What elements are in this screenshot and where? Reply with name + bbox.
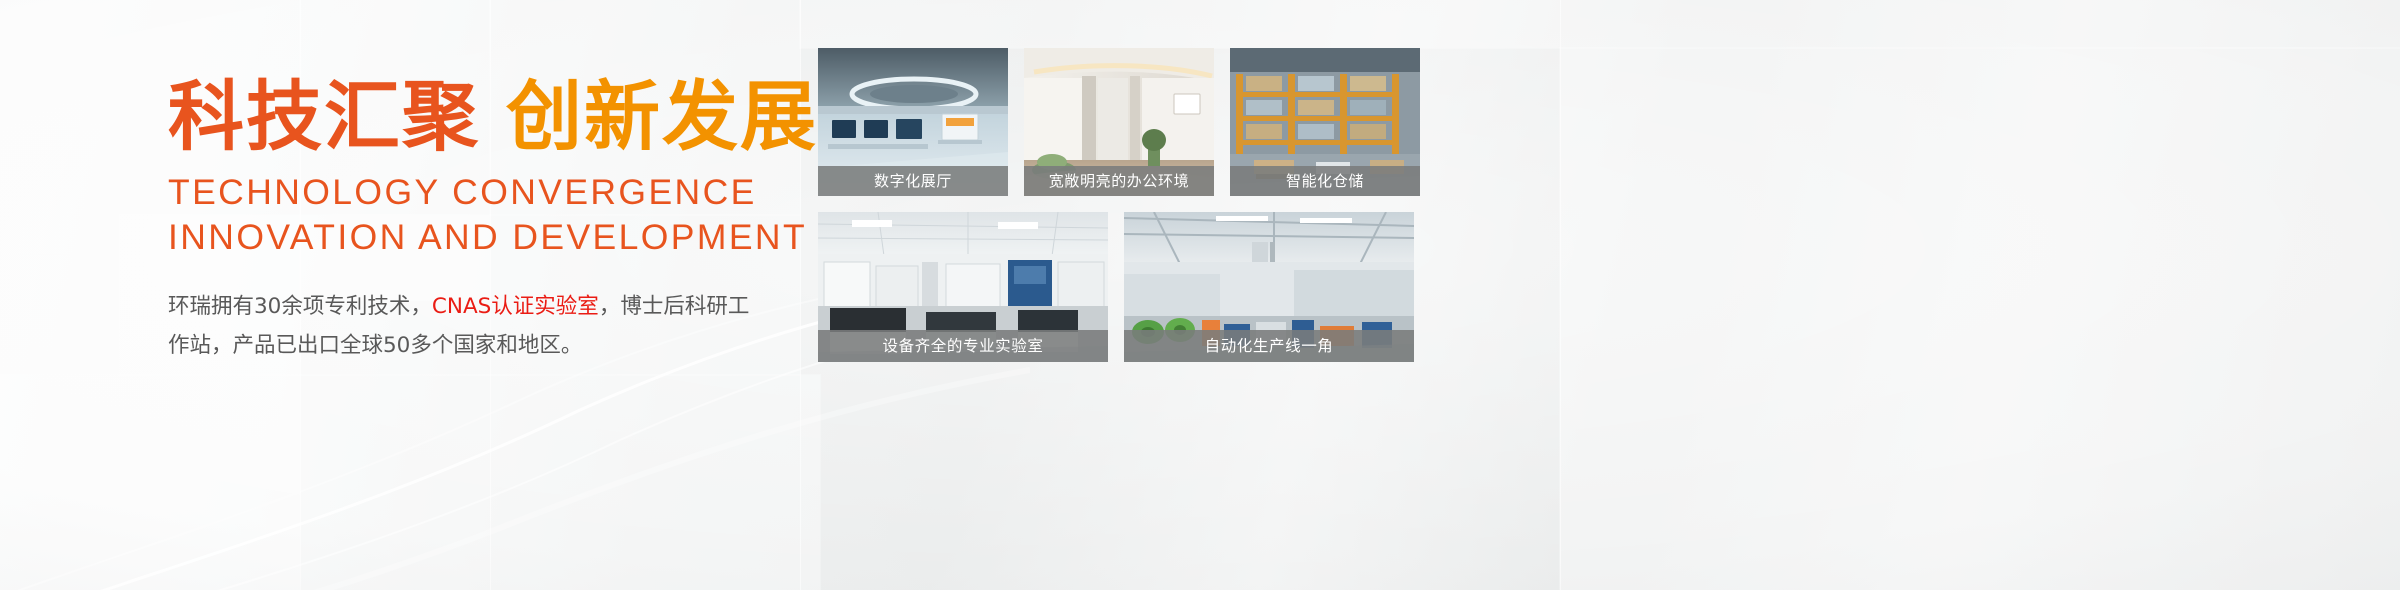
gallery-card[interactable]: 设备齐全的专业实验室 xyxy=(818,212,1108,362)
subheadline-line-1: TECHNOLOGY CONVERGENCE xyxy=(168,172,757,212)
subheadline-line-2: INNOVATION AND DEVELOPMENT xyxy=(168,215,788,260)
headline-part-primary: 科技汇聚 xyxy=(168,72,480,161)
headline-part-secondary: 创新发展 xyxy=(506,72,818,161)
gallery-caption: 宽敞明亮的办公环境 xyxy=(1024,166,1214,196)
gallery-card[interactable]: 智能化仓储 xyxy=(1230,48,1420,196)
gallery-caption: 自动化生产线一角 xyxy=(1124,330,1414,362)
description-text-before: 环瑞拥有30余项专利技术， xyxy=(168,294,432,319)
subheadline: TECHNOLOGY CONVERGENCE INNOVATION AND DE… xyxy=(168,170,788,261)
gallery-caption: 智能化仓储 xyxy=(1230,166,1420,196)
description-highlight: CNAS认证实验室 xyxy=(432,294,599,319)
gallery-row-bottom: 设备齐全的专业实验室 xyxy=(818,212,2220,362)
gallery-card[interactable]: 宽敞明亮的办公环境 xyxy=(1024,48,1214,196)
gallery-card[interactable]: 数字化展厅 xyxy=(818,48,1008,196)
facility-photo-gallery: 数字化展厅 xyxy=(818,48,2220,362)
gallery-caption: 数字化展厅 xyxy=(818,166,1008,196)
banner-description: 环瑞拥有30余项专利技术，CNAS认证实验室，博士后科研工作站，产品已出口全球5… xyxy=(168,288,760,365)
gallery-card[interactable]: 自动化生产线一角 xyxy=(1124,212,1414,362)
gallery-row-top: 数字化展厅 xyxy=(818,48,2220,196)
promo-banner: 科技汇聚创新发展 TECHNOLOGY CONVERGENCE INNOVATI… xyxy=(0,0,2400,590)
gallery-caption: 设备齐全的专业实验室 xyxy=(818,330,1108,362)
banner-copy-block: 科技汇聚创新发展 TECHNOLOGY CONVERGENCE INNOVATI… xyxy=(168,78,788,365)
wall-panel-5 xyxy=(800,0,2400,48)
page-title: 科技汇聚创新发展 xyxy=(168,78,788,156)
wall-panel-7 xyxy=(0,375,820,590)
